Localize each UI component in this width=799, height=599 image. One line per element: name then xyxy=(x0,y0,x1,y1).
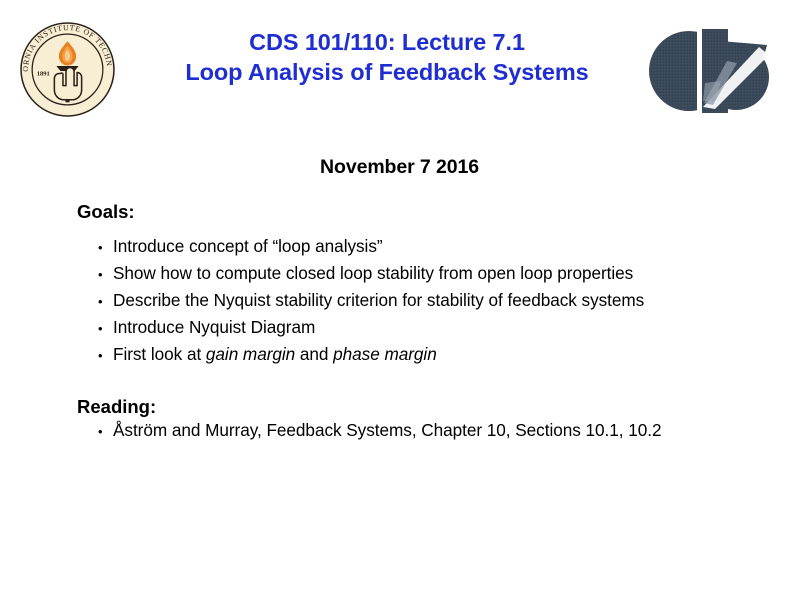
goals-item-5-em1: gain margin xyxy=(206,344,295,364)
caltech-seal-icon: CALIFORNIA INSTITUTE OF TECHNOLOGY 1891 xyxy=(17,19,118,120)
bullet-dot-icon: • xyxy=(98,425,113,438)
title-line-1: CDS 101/110: Lecture 7.1 xyxy=(133,27,641,57)
cds-logo xyxy=(641,25,771,117)
list-item: • Describe the Nyquist stability criteri… xyxy=(98,290,788,317)
goals-item-5-mid: and xyxy=(295,344,333,364)
goals-item-2: Show how to compute closed loop stabilit… xyxy=(113,263,788,284)
bullet-dot-icon: • xyxy=(98,349,113,362)
caltech-seal-logo: CALIFORNIA INSTITUTE OF TECHNOLOGY 1891 xyxy=(17,19,118,120)
goals-item-4: Introduce Nyquist Diagram xyxy=(113,317,788,338)
list-item: • Introduce Nyquist Diagram xyxy=(98,317,788,344)
bullet-dot-icon: • xyxy=(98,241,113,254)
bullet-dot-icon: • xyxy=(98,322,113,335)
list-item: • Show how to compute closed loop stabil… xyxy=(98,263,788,290)
slide-canvas: CALIFORNIA INSTITUTE OF TECHNOLOGY 1891 xyxy=(0,0,799,599)
goals-item-5-prefix: First look at xyxy=(113,344,206,364)
reading-item-1: Åström and Murray, Feedback Systems, Cha… xyxy=(113,420,788,441)
goals-item-1: Introduce concept of “loop analysis” xyxy=(113,236,788,257)
goals-item-3: Describe the Nyquist stability criterion… xyxy=(113,290,788,311)
slide-title: CDS 101/110: Lecture 7.1 Loop Analysis o… xyxy=(133,27,641,87)
title-line-2: Loop Analysis of Feedback Systems xyxy=(133,57,641,87)
goals-heading: Goals: xyxy=(77,201,135,223)
list-item: • Introduce concept of “loop analysis” xyxy=(98,236,788,263)
reading-heading: Reading: xyxy=(77,396,156,418)
list-item: • First look at gain margin and phase ma… xyxy=(98,344,788,371)
bullet-dot-icon: • xyxy=(98,268,113,281)
list-item: • Åström and Murray, Feedback Systems, C… xyxy=(98,420,788,447)
goals-bullet-list: • Introduce concept of “loop analysis” •… xyxy=(98,236,788,371)
reading-bullet-list: • Åström and Murray, Feedback Systems, C… xyxy=(98,420,788,447)
slide-date: November 7 2016 xyxy=(0,156,799,179)
goals-item-5: First look at gain margin and phase marg… xyxy=(113,344,788,365)
cds-logo-icon xyxy=(641,25,771,117)
goals-item-5-em2: phase margin xyxy=(333,344,437,364)
bullet-dot-icon: • xyxy=(98,295,113,308)
seal-year: 1891 xyxy=(37,71,50,78)
